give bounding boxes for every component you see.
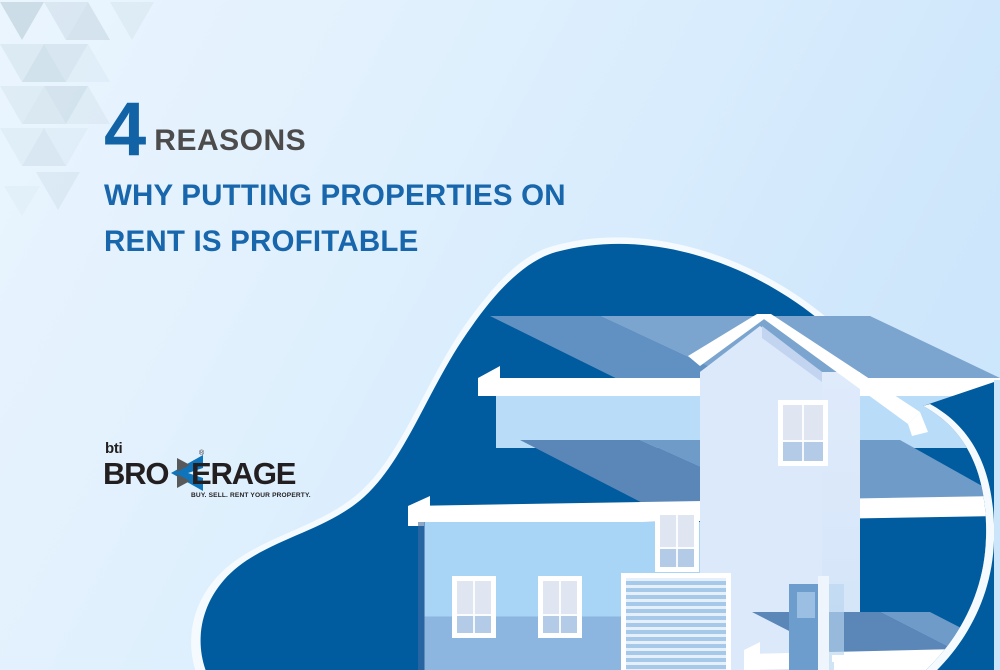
garage-door [621, 573, 731, 670]
headline-line-3: RENT IS PROFITABLE [104, 221, 724, 263]
left-wing-edge [418, 522, 425, 670]
upper-window [778, 400, 828, 466]
logo-word-bro: BRO [103, 457, 168, 491]
poster-canvas: 4 REASONS WHY PUTTING PROPERTIES ON RENT… [0, 0, 1000, 670]
logo-tagline: BUY. SELL. RENT YOUR PROPERTY. [191, 492, 311, 499]
mid-window [655, 510, 699, 572]
poster-right-bg [994, 380, 1000, 670]
headline-block: 4 REASONS WHY PUTTING PROPERTIES ON RENT… [104, 100, 724, 263]
bti-brokerage-logo[interactable]: bti BRO ERAGE ® BUY. SELL. RENT YOUR PRO… [103, 441, 122, 491]
headline-row-1: 4 REASONS [104, 100, 724, 159]
logo-bti-text: bti [105, 441, 122, 456]
logo-wordmark: BRO ERAGE ® BUY. SELL. RENT YOUR PROPERT… [103, 457, 122, 491]
registered-mark-icon: ® [199, 450, 204, 457]
headline-reasons: REASONS [154, 126, 306, 156]
headline-line-2: WHY PUTTING PROPERTIES ON [104, 175, 724, 217]
headline-number: 4 [104, 100, 144, 159]
ground-window-left [452, 576, 496, 638]
logo-word-erage: ERAGE [191, 457, 295, 491]
door-column [818, 576, 829, 670]
porch-rail-top [832, 655, 950, 662]
ground-window-right [538, 576, 582, 638]
